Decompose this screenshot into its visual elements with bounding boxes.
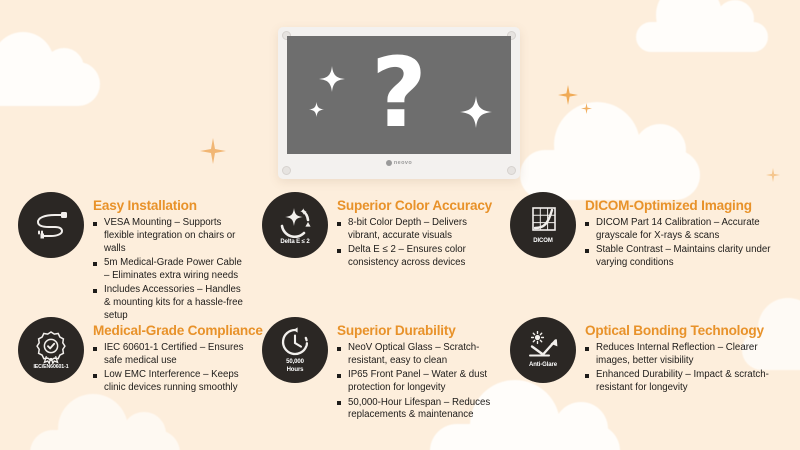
feature-text: DICOM-Optimized Imaging DICOM Part 14 Ca… (585, 192, 794, 272)
list-item: IP65 Front Panel – Water & dust protecti… (337, 369, 494, 395)
certification-rosette-icon: IEC/EN60601-1 (18, 317, 84, 383)
color-sparkle-icon: Delta E ≤ 2 (262, 192, 328, 258)
bezel-screw (282, 166, 291, 175)
sparkle-icon (200, 138, 226, 164)
logo-mark-icon (386, 160, 392, 166)
dicom-curve-chart-icon: DICOM (510, 192, 576, 258)
feature-title: Superior Color Accuracy (337, 198, 494, 213)
clock-lifespan-icon: 50,000 Hours (262, 317, 328, 383)
feature-grid: Easy Installation VESA Mounting – Suppor… (0, 192, 800, 424)
infographic-page: ? neovo Easy Installation VESA Mounting (0, 0, 800, 450)
list-item: 8-bit Color Depth – Delivers vibrant, ac… (337, 217, 494, 243)
list-item: 5m Medical-Grade Power Cable – Eliminate… (93, 257, 244, 283)
badge-caption: Delta E ≤ 2 (280, 239, 309, 246)
feature-bullet-list: NeoV Optical Glass – Scratch-resistant, … (337, 342, 494, 422)
feature-superior-durability: 50,000 Hours Superior Durability NeoV Op… (250, 317, 500, 424)
list-item: Reduces Internal Reflection – Clearer im… (585, 342, 794, 368)
question-mark-placeholder: ? (371, 45, 427, 141)
feature-text: Superior Color Accuracy 8-bit Color Dept… (337, 192, 494, 272)
sparkle-icon (558, 85, 578, 105)
feature-bullet-list: DICOM Part 14 Calibration – Accurate gra… (585, 217, 794, 270)
badge-caption-line-2: Hours (287, 367, 304, 374)
feature-text: Easy Installation VESA Mounting – Suppor… (93, 192, 244, 325)
bezel-screw (507, 166, 516, 175)
feature-superior-color-accuracy: Delta E ≤ 2 Superior Color Accuracy 8-bi… (250, 192, 500, 317)
list-item: Stable Contrast – Maintains clarity unde… (585, 244, 794, 270)
list-item: Includes Accessories – Handles & mountin… (93, 284, 244, 323)
medical-monitor-illustration: ? neovo (278, 27, 520, 179)
feature-optical-bonding-technology: Anti-Glare Optical Bonding Technology Re… (500, 317, 800, 424)
anti-glare-reflection-icon: Anti-Glare (510, 317, 576, 383)
feature-bullet-list: Reduces Internal Reflection – Clearer im… (585, 342, 794, 395)
feature-text: Medical-Grade Compliance IEC 60601-1 Cer… (93, 317, 244, 397)
list-item: Delta E ≤ 2 – Ensures color consistency … (337, 244, 494, 270)
sparkle-icon (460, 96, 492, 133)
list-item: DICOM Part 14 Calibration – Accurate gra… (585, 217, 794, 243)
brand-logo: neovo (287, 154, 511, 172)
feature-title: Optical Bonding Technology (585, 323, 794, 338)
sparkle-icon (581, 103, 592, 114)
cloud-decoration (636, 22, 768, 52)
feature-text: Optical Bonding Technology Reduces Inter… (585, 317, 794, 397)
list-item: 50,000-Hour Lifespan – Reduces replaceme… (337, 397, 494, 423)
feature-bullet-list: 8-bit Color Depth – Delivers vibrant, ac… (337, 217, 494, 270)
sparkle-icon (319, 66, 345, 97)
list-item: Low EMC Interference – Keeps clinic devi… (93, 369, 244, 395)
sparkle-icon (766, 168, 780, 182)
list-item: IEC 60601-1 Certified – Ensures safe med… (93, 342, 244, 368)
monitor-screen: ? (287, 36, 511, 154)
feature-bullet-list: IEC 60601-1 Certified – Ensures safe med… (93, 342, 244, 395)
cloud-decoration (430, 424, 620, 450)
list-item: VESA Mounting – Supports flexible integr… (93, 217, 244, 256)
cloud-decoration (0, 62, 100, 106)
feature-text: Superior Durability NeoV Optical Glass –… (337, 317, 494, 424)
cloud-decoration (30, 430, 180, 450)
feature-bullet-list: VESA Mounting – Supports flexible integr… (93, 217, 244, 323)
power-cable-icon (18, 192, 84, 258)
logo-wordmark: neovo (394, 160, 412, 166)
feature-title: DICOM-Optimized Imaging (585, 198, 794, 213)
badge-caption: IEC/EN60601-1 (33, 365, 68, 371)
badge-caption-line-1: 50,000 (286, 359, 304, 366)
list-item: Enhanced Durability – Impact & scratch-r… (585, 369, 794, 395)
feature-medical-grade-compliance: IEC/EN60601-1 Medical-Grade Compliance I… (0, 317, 250, 424)
sparkle-icon (309, 102, 324, 122)
feature-title: Medical-Grade Compliance (93, 323, 244, 338)
feature-title: Easy Installation (93, 198, 244, 213)
badge-caption: Anti-Glare (529, 362, 557, 369)
feature-dicom-optimized-imaging: DICOM DICOM-Optimized Imaging DICOM Part… (500, 192, 800, 317)
list-item: NeoV Optical Glass – Scratch-resistant, … (337, 342, 494, 368)
badge-caption: DICOM (533, 238, 553, 245)
feature-title: Superior Durability (337, 323, 494, 338)
feature-easy-installation: Easy Installation VESA Mounting – Suppor… (0, 192, 250, 317)
